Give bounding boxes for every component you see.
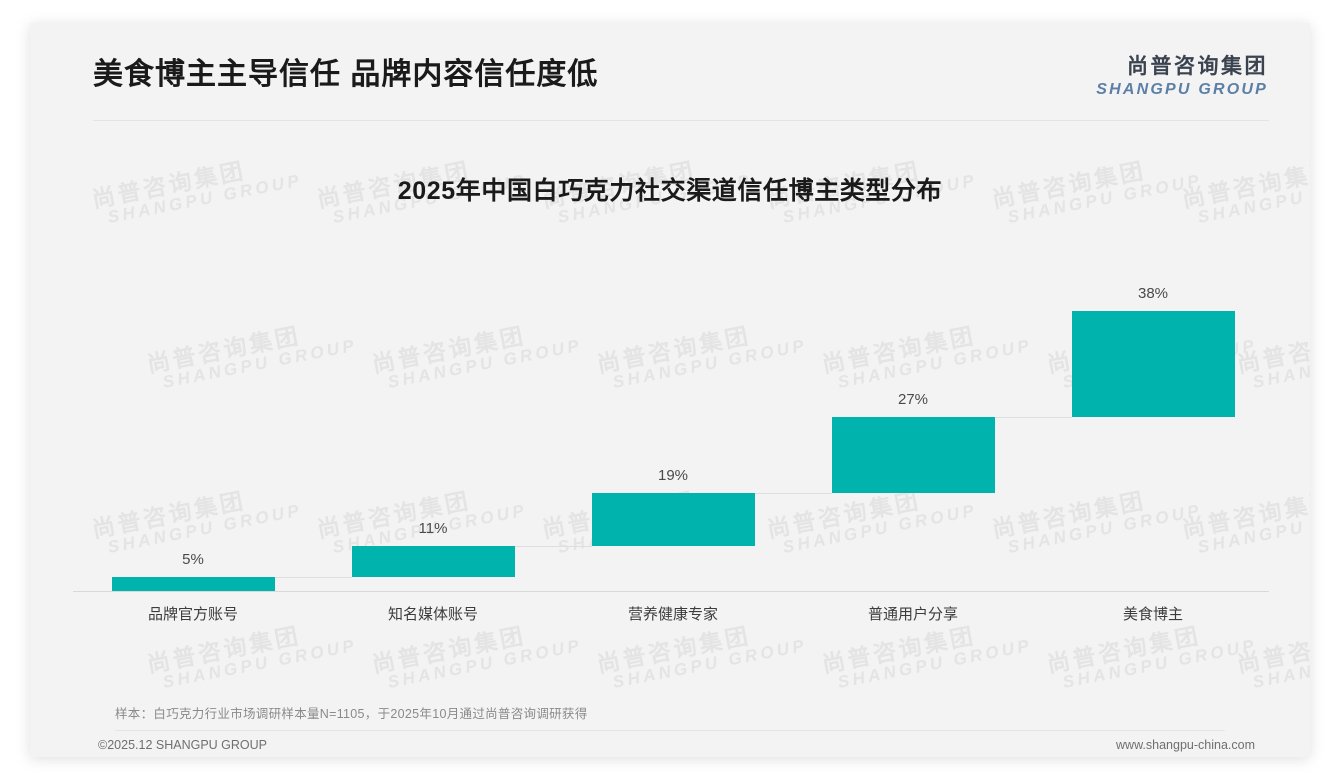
chart-title: 2025年中国白巧克力社交渠道信任博主类型分布 xyxy=(30,171,1310,207)
category-label: 营养健康专家 xyxy=(573,603,773,624)
slide-header: 美食博主主导信任 品牌内容信任度低 尚普咨询集团 SHANGPU GROUP xyxy=(30,23,1310,120)
category-label: 美食博主 xyxy=(1053,603,1253,624)
waterfall-connector xyxy=(755,493,832,494)
bar-segment xyxy=(832,417,995,493)
footer-divider xyxy=(115,730,1225,731)
footer-copyright: ©2025.12 SHANGPU GROUP xyxy=(98,738,267,752)
category-axis-labels: 品牌官方账号知名媒体账号营养健康专家普通用户分享美食博主 xyxy=(73,603,1269,627)
waterfall-connector xyxy=(515,546,592,547)
category-label: 知名媒体账号 xyxy=(333,603,533,624)
header-divider xyxy=(93,120,1269,121)
x-axis-line xyxy=(73,591,1269,592)
bar-segment xyxy=(1072,311,1235,417)
bar-value-label: 27% xyxy=(853,391,973,408)
bar-value-label: 5% xyxy=(133,551,253,568)
category-label: 品牌官方账号 xyxy=(93,603,293,624)
brand-logo: 尚普咨询集团 SHANGPU GROUP xyxy=(1096,55,1268,99)
source-note: 样本：白巧克力行业市场调研样本量N=1105，于2025年10月通过尚普咨询调研… xyxy=(115,703,588,722)
bar-segment xyxy=(352,546,515,577)
waterfall-connector xyxy=(995,417,1072,418)
waterfall-connector xyxy=(275,577,352,578)
bar-value-label: 38% xyxy=(1093,285,1213,302)
bar-segment xyxy=(592,493,755,546)
bar-segment xyxy=(112,577,275,591)
slide-card: 尚普咨询集团SHANGPU GROUP尚普咨询集团SHANGPU GROUP尚普… xyxy=(30,23,1310,757)
bar-value-label: 11% xyxy=(373,520,493,537)
waterfall-chart: 5%11%19%27%38% xyxy=(73,143,1273,598)
category-label: 普通用户分享 xyxy=(813,603,1013,624)
footer-website: www.shangpu-china.com xyxy=(1116,738,1255,752)
logo-text-en: SHANGPU GROUP xyxy=(1096,80,1268,99)
page-title: 美食博主主导信任 品牌内容信任度低 xyxy=(93,49,598,93)
bar-value-label: 19% xyxy=(613,467,733,484)
logo-text-cn: 尚普咨询集团 xyxy=(1096,55,1268,80)
page-root: 尚普咨询集团SHANGPU GROUP尚普咨询集团SHANGPU GROUP尚普… xyxy=(0,0,1340,780)
